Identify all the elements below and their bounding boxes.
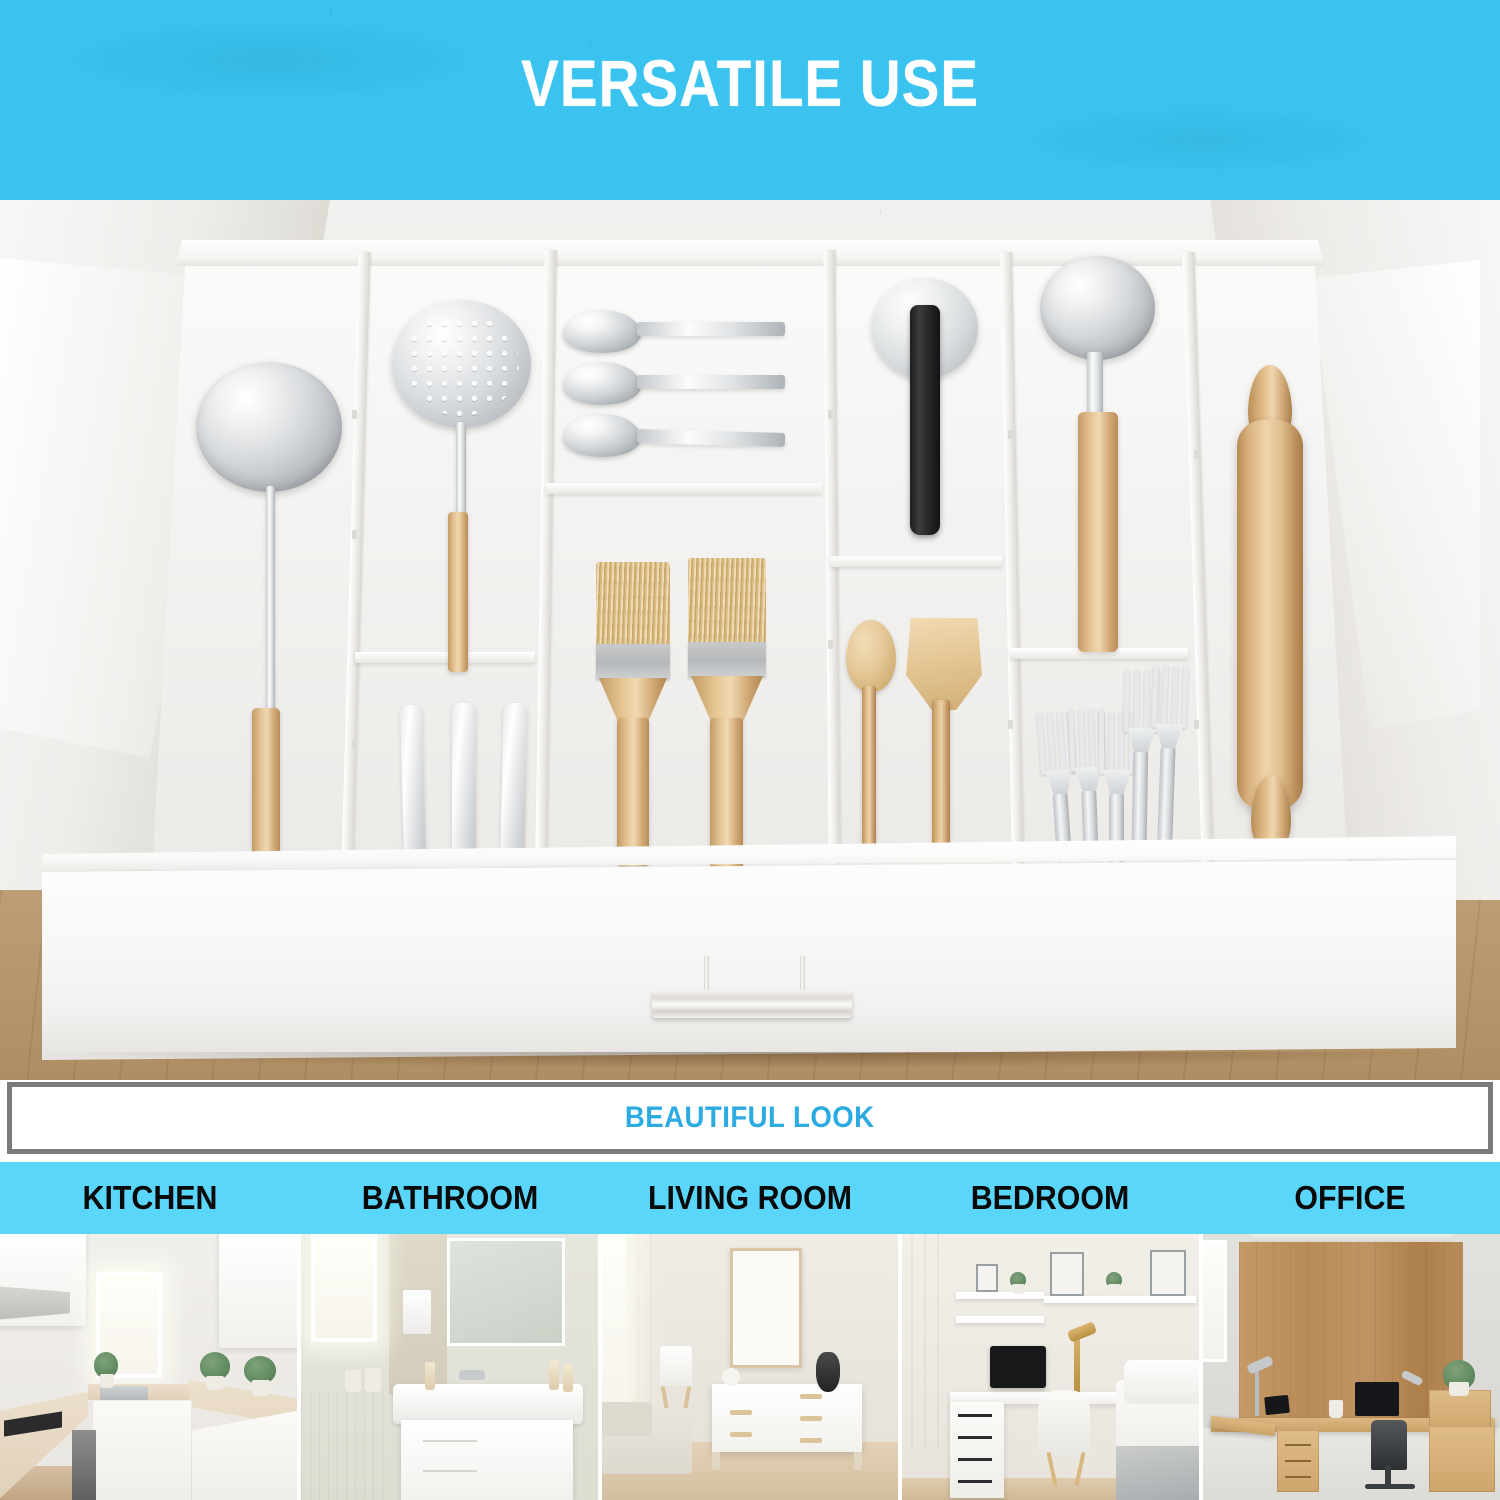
office-drawer-line-1 xyxy=(1285,1444,1311,1446)
bedroom-picture-frame-1 xyxy=(976,1264,998,1292)
ladle-right-shaft xyxy=(1087,352,1103,420)
office-laptop xyxy=(1264,1395,1290,1415)
pastry-brush-bristles-2 xyxy=(688,558,766,646)
drawer-drop-shadow xyxy=(48,1052,1448,1068)
bedroom-blanket xyxy=(1116,1446,1199,1500)
drawer-pull-handle[interactable] xyxy=(652,990,852,1018)
living-room-dresser-leg-right xyxy=(854,1452,862,1470)
bathroom-window xyxy=(311,1234,377,1342)
bathroom-cup-2 xyxy=(365,1368,381,1392)
living-room-photo xyxy=(602,1234,899,1500)
office-drawer-line-2 xyxy=(1285,1460,1311,1462)
office-filing-cabinet-top xyxy=(1429,1390,1491,1430)
fork-neck xyxy=(1154,723,1183,750)
tray-peg xyxy=(1008,430,1013,439)
butter-knife-1 xyxy=(400,705,426,856)
product-infographic: VERSATILE USE xyxy=(0,0,1500,1500)
butter-knife-2 xyxy=(452,703,476,855)
bathroom-soap-bottle-3 xyxy=(563,1364,573,1392)
room-label-bathroom: BATHROOM xyxy=(312,1162,588,1234)
pastry-brush-ferrule-2 xyxy=(688,642,766,678)
pizza-cutter-handle xyxy=(910,305,940,535)
ladle-bowl-right xyxy=(1040,256,1155,360)
bathroom-faucet xyxy=(459,1370,485,1380)
kitchen-sink xyxy=(100,1386,148,1400)
serving-spoon-handle-2 xyxy=(637,375,785,389)
wooden-spoon-handle xyxy=(862,686,876,858)
tray-peg xyxy=(828,640,833,649)
beautiful-look-banner: BEAUTIFUL LOOK xyxy=(7,1082,1493,1154)
living-room-dresser-leg-left xyxy=(712,1452,720,1470)
living-room-window xyxy=(602,1234,626,1410)
serving-spoon-head-3 xyxy=(563,414,641,457)
hero-product-photo xyxy=(0,200,1500,1080)
room-label-bedroom: BEDROOM xyxy=(912,1162,1188,1234)
bedroom-picture-frame-3 xyxy=(1150,1250,1186,1296)
bedroom-drawer-pull-3 xyxy=(958,1458,992,1461)
living-room-dresser-pull-5 xyxy=(800,1438,822,1443)
skimmer-shaft xyxy=(456,422,466,516)
living-room-vase xyxy=(816,1352,840,1392)
ladle-metal-shaft xyxy=(266,486,275,714)
room-label-office: OFFICE xyxy=(1212,1162,1488,1234)
handle-post-left xyxy=(704,956,709,994)
office-pen-cup xyxy=(1329,1400,1343,1418)
tray-peg xyxy=(1194,450,1199,459)
living-room-dresser xyxy=(712,1384,862,1452)
bedroom-picture-frame-2 xyxy=(1050,1252,1084,1296)
beautiful-look-label: BEAUTIFUL LOOK xyxy=(625,1101,875,1135)
bedroom-chair xyxy=(1038,1390,1090,1458)
serving-spoon-head-1 xyxy=(563,310,641,353)
office-monitor xyxy=(1355,1382,1399,1416)
bathroom-vanity-cabinet xyxy=(401,1420,573,1500)
serving-spoon-handle-1 xyxy=(637,322,785,336)
skimmer-disc xyxy=(392,300,531,428)
wooden-spatula-handle xyxy=(932,700,950,858)
ladle-right-wood-handle xyxy=(1078,412,1118,652)
bedroom-plant-pot-1 xyxy=(1012,1284,1025,1294)
tray-peg xyxy=(1008,720,1013,729)
bathroom-soap-bottle-1 xyxy=(425,1362,435,1390)
wooden-spoon-head xyxy=(846,620,896,692)
bathroom-towel xyxy=(403,1290,431,1334)
living-room-cushion xyxy=(602,1402,652,1436)
room-thumbnail-row xyxy=(0,1234,1500,1500)
bedroom-curtain xyxy=(902,1234,944,1450)
living-room-dresser-pull-1 xyxy=(730,1410,752,1415)
bathroom-photo xyxy=(301,1234,598,1500)
skimmer-perforations xyxy=(404,312,519,416)
bedroom-shelf-3 xyxy=(1044,1296,1196,1303)
bathroom-soap-bottle-2 xyxy=(549,1360,559,1390)
bedroom-shelf-1 xyxy=(956,1292,1044,1299)
bedroom-photo xyxy=(902,1234,1199,1500)
office-plant-pot xyxy=(1449,1382,1469,1396)
tray-peg xyxy=(352,740,357,749)
kitchen-plant-pot-1 xyxy=(100,1374,114,1388)
divider-horizontal-knives xyxy=(355,652,535,663)
bathroom-basin xyxy=(393,1384,583,1424)
bathroom-mirror xyxy=(447,1238,565,1346)
pastry-brush-ferrule-1 xyxy=(596,644,670,680)
skimmer-wood-handle xyxy=(448,512,468,672)
ladle-bowl xyxy=(196,362,342,492)
living-room-lamp-shade xyxy=(660,1346,692,1386)
kitchen-base-cabinets xyxy=(92,1400,192,1500)
tray-peg xyxy=(828,410,833,419)
bathroom-cup-1 xyxy=(345,1370,361,1392)
office-chair-base xyxy=(1365,1484,1415,1489)
office-photo xyxy=(1203,1234,1500,1500)
kitchen-photo xyxy=(0,1234,297,1500)
room-label-bar: KITCHEN BATHROOM LIVING ROOM BEDROOM OFF… xyxy=(0,1162,1500,1234)
kitchen-oven xyxy=(72,1430,96,1500)
divider-horizontal-pizza xyxy=(830,556,1002,567)
bedroom-pillow xyxy=(1124,1360,1199,1404)
kitchen-plant-pot-2 xyxy=(206,1376,224,1390)
drawer-organizer-back-rim xyxy=(152,240,1348,266)
bedroom-shelf-2 xyxy=(956,1316,1044,1323)
tray-peg xyxy=(352,530,357,539)
bathroom-vanity-drawer-line-2 xyxy=(423,1470,477,1472)
office-filing-cabinet xyxy=(1429,1426,1495,1492)
handle-post-right xyxy=(800,956,805,994)
bedroom-drawer-pull-2 xyxy=(958,1436,992,1439)
header-banner: VERSATILE USE xyxy=(0,0,1500,200)
page-title: VERSATILE USE xyxy=(105,50,1395,116)
bedroom-drawer-pull-1 xyxy=(958,1414,992,1417)
bedroom-drawer-pull-4 xyxy=(958,1480,992,1483)
office-drawer-line-3 xyxy=(1285,1476,1311,1478)
bedroom-monitor xyxy=(990,1346,1046,1388)
living-room-decor-orb xyxy=(722,1368,740,1386)
kitchen-plant-pot-3 xyxy=(252,1380,270,1396)
office-window xyxy=(1203,1240,1227,1362)
office-chair xyxy=(1371,1420,1407,1470)
rolling-pin-body xyxy=(1237,420,1303,810)
divider-horizontal-spoons xyxy=(546,483,822,494)
room-label-kitchen: KITCHEN xyxy=(12,1162,288,1234)
fork-tines xyxy=(1149,665,1195,728)
living-room-wall-art xyxy=(730,1248,802,1368)
drawer-front-panel xyxy=(42,860,1456,1060)
fork-5 xyxy=(1145,665,1196,862)
butter-knife-3 xyxy=(500,703,527,855)
office-ceiling-light xyxy=(1251,1234,1451,1242)
living-room-dresser-pull-4 xyxy=(800,1416,822,1421)
ladle-wood-handle xyxy=(252,708,280,858)
bedroom-plant-pot-2 xyxy=(1108,1284,1121,1296)
bathroom-vanity-drawer-line-1 xyxy=(423,1440,477,1442)
living-room-dresser-pull-3 xyxy=(800,1394,822,1399)
pastry-brush-handle-1 xyxy=(617,718,649,866)
room-label-living-room: LIVING ROOM xyxy=(612,1162,888,1234)
living-room-dresser-pull-2 xyxy=(730,1432,752,1437)
pastry-brush-bristles-1 xyxy=(596,562,670,648)
tray-peg xyxy=(352,410,357,419)
tray-peg xyxy=(1194,720,1199,729)
kitchen-upper-cabinet-right xyxy=(219,1234,297,1348)
serving-spoon-head-2 xyxy=(563,362,641,405)
bathroom-wainscot-panel xyxy=(301,1390,391,1500)
